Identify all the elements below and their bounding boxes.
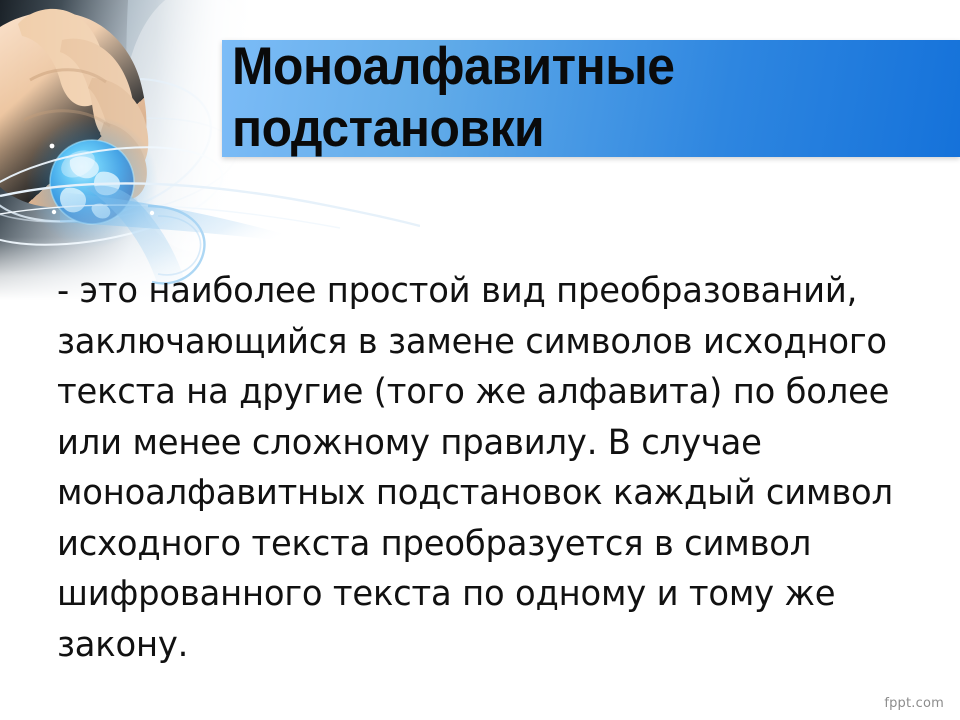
- fppt-watermark: fppt.com: [884, 696, 944, 711]
- slide-title: Моноалфавитные подстановки: [232, 36, 890, 160]
- presentation-slide: Моноалфавитные подстановки - это наиболе…: [0, 0, 960, 720]
- slide-body-text: - это наиболее простой вид преобразовани…: [57, 266, 906, 670]
- hero-image: [0, 0, 252, 300]
